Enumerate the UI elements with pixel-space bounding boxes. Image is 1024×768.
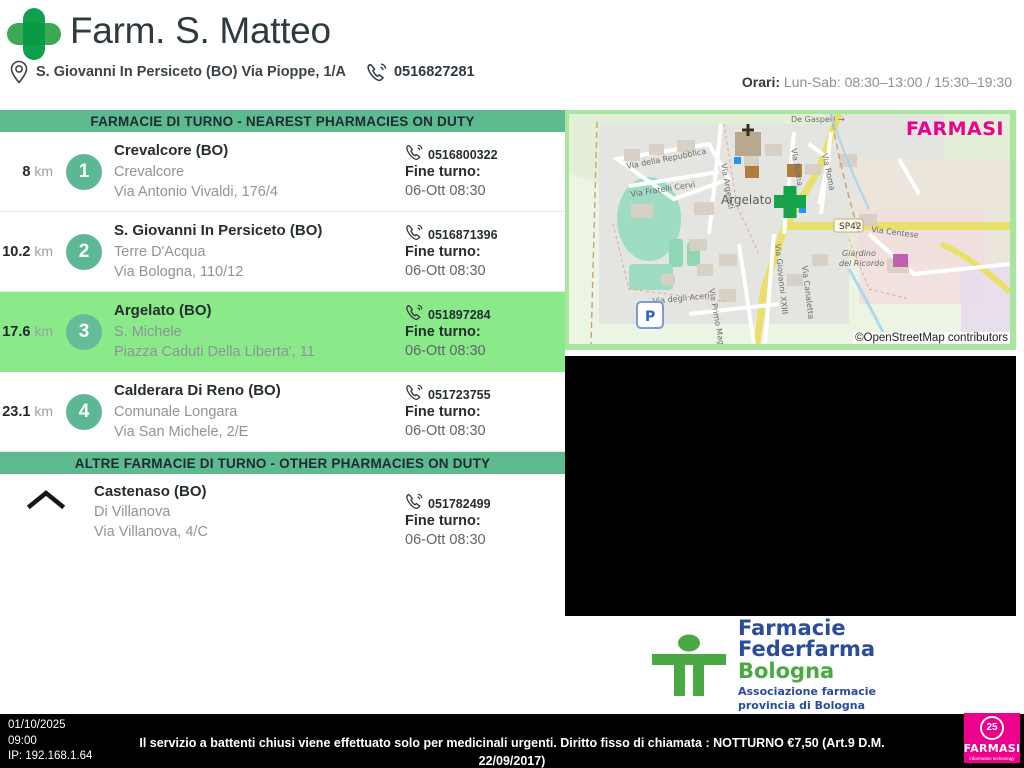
pharmacy-town: Castenaso (BO)	[94, 482, 405, 502]
footer-ip: IP: 192.168.1.64	[8, 749, 92, 765]
pharmacy-street: Via Antonio Vivaldi, 176/4	[114, 182, 405, 202]
shift-end-label: Fine turno:	[405, 243, 557, 262]
chevron-up-icon[interactable]	[26, 488, 66, 510]
pharmacy-contact: 051897284 Fine turno: 06-Ott 08:30	[405, 303, 565, 361]
federfarma-figure-icon	[652, 634, 726, 696]
pharmacy-town: Calderara Di Reno (BO)	[114, 381, 405, 401]
federfarma-sub2: provincia di Bologna	[738, 699, 876, 712]
shift-end-value: 06-Ott 08:30	[405, 262, 557, 281]
phone-line: 051897284	[405, 303, 557, 322]
phone-ring-icon	[405, 303, 424, 322]
opening-hours-label: Orari:	[742, 74, 780, 90]
pharmacy-phone: 051897284	[428, 308, 491, 322]
pharmacy-town: Argelato (BO)	[114, 301, 405, 321]
pharmacy-street: Piazza Caduti Della Liberta', 11	[114, 342, 405, 362]
footer-date: 01/10/2025	[8, 718, 92, 734]
farmasi-brand-name: FARMASI	[964, 742, 1021, 755]
distance-unit: km	[34, 403, 53, 419]
pharmacy-street: Via Villanova, 4/C	[94, 522, 405, 542]
footer-status: 01/10/2025 09:00 IP: 192.168.1.64	[8, 718, 92, 765]
footer-notice: Il servizio a battenti chiusi viene effe…	[120, 734, 904, 768]
phone-line: 051723755	[405, 383, 557, 402]
distance-cell: 8 km	[0, 163, 56, 180]
pharmacy-name: Comunale Longara	[114, 402, 405, 422]
svg-text:Giardino: Giardino	[842, 249, 876, 258]
header: Farm. S. Matteo S. Giovanni In Persiceto…	[0, 0, 1024, 104]
distance-unit: km	[34, 163, 53, 179]
phone-ring-icon	[405, 223, 424, 242]
footer: 01/10/2025 09:00 IP: 192.168.1.64 Il ser…	[0, 714, 1024, 768]
pharmacy-name: S. Michele	[114, 322, 405, 342]
pharmacy-phone: 051723755	[428, 388, 491, 402]
pharmacy-list: FARMACIE DI TURNO - NEAREST PHARMACIES O…	[0, 110, 565, 710]
pharmacy-phone: 051782499	[428, 497, 491, 511]
distance-cell: 17.6 km	[0, 323, 56, 340]
phone-ring-icon	[366, 62, 388, 83]
pharmacy-info: S. Giovanni In Persiceto (BO) Terre D'Ac…	[112, 221, 405, 281]
pharmacy-contact: 051782499 Fine turno: 06-Ott 08:30	[405, 482, 565, 550]
federfarma-logo: Farmacie Federfarma Bologna Associazione…	[652, 624, 922, 706]
federfarma-line2: Federfarma	[738, 639, 876, 660]
page-title: Farm. S. Matteo	[70, 10, 331, 52]
others-band-title: ALTRE FARMACIE DI TURNO - OTHER PHARMACI…	[0, 452, 565, 474]
list-item[interactable]: Castenaso (BO) Di Villanova Via Villanov…	[0, 474, 565, 570]
distance-unit: km	[34, 323, 53, 339]
pharmacy-duty-board: Farm. S. Matteo S. Giovanni In Persiceto…	[0, 0, 1024, 768]
map-attribution: ©OpenStreetMap contributors	[853, 332, 1010, 344]
table-row[interactable]: 8 km 1 Crevalcore (BO) Crevalcore Via An…	[0, 132, 565, 212]
farmasi-tagline: information technology	[969, 756, 1014, 761]
federfarma-line3: Bologna	[738, 661, 876, 682]
map-place-label: Argelato	[721, 193, 772, 207]
pharmacy-contact: 051723755 Fine turno: 06-Ott 08:30	[405, 383, 565, 441]
rank-badge: 4	[66, 394, 102, 430]
table-row[interactable]: 17.6 km 3 Argelato (BO) S. Michele Piazz…	[0, 292, 565, 372]
pharmacy-contact: 0516871396 Fine turno: 06-Ott 08:30	[405, 223, 565, 281]
address-row: S. Giovanni In Persiceto (BO) Via Pioppe…	[8, 60, 475, 84]
pharmacy-phone: 0516800322	[428, 148, 498, 162]
shift-end-value: 06-Ott 08:30	[405, 182, 557, 201]
distance-unit: km	[34, 243, 53, 259]
svg-text:del Ricordo: del Ricordo	[839, 259, 884, 268]
table-row[interactable]: 23.1 km 4 Calderara Di Reno (BO) Comunal…	[0, 372, 565, 452]
shift-end-label: Fine turno:	[405, 512, 557, 531]
pharmacy-info: Calderara Di Reno (BO) Comunale Longara …	[112, 381, 405, 441]
pharmacy-info: Argelato (BO) S. Michele Piazza Caduti D…	[112, 301, 405, 361]
scroll-up-control[interactable]	[0, 482, 92, 510]
location-pin-icon	[8, 60, 30, 84]
table-row[interactable]: 10.2 km 2 S. Giovanni In Persiceto (BO) …	[0, 212, 565, 292]
farmasi-footer-logo: 25 FARMASI information technology	[964, 713, 1020, 763]
nearest-band-title: FARMACIE DI TURNO - NEAREST PHARMACIES O…	[0, 110, 565, 132]
opening-hours-value: Lun-Sab: 08:30–13:00 / 15:30–19:30	[784, 74, 1012, 90]
osm-map[interactable]: Via della Repubblica Via Fratelli Cervi …	[569, 114, 1010, 344]
pharmacy-name: Di Villanova	[94, 502, 405, 522]
distance-value: 23.1	[2, 404, 30, 420]
svg-text:De Gasperi →: De Gasperi →	[791, 115, 845, 124]
shift-end-label: Fine turno:	[405, 323, 557, 342]
phone-ring-icon	[405, 143, 424, 162]
address-text: S. Giovanni In Persiceto (BO) Via Pioppe…	[36, 64, 346, 80]
opening-hours: Orari: Lun-Sab: 08:30–13:00 / 15:30–19:3…	[742, 74, 1012, 90]
pharmacy-street: Via Bologna, 110/12	[114, 262, 405, 282]
rank-badge: 3	[66, 314, 102, 350]
phone-line: 051782499	[405, 492, 557, 511]
pharmacy-name: Terre D'Acqua	[114, 242, 405, 262]
phone-ring-icon	[405, 383, 424, 402]
shift-end-value: 06-Ott 08:30	[405, 342, 557, 361]
distance-cell: 10.2 km	[0, 243, 56, 260]
pharmacy-phone: 0516871396	[428, 228, 498, 242]
video-panel	[565, 356, 1016, 616]
svg-text:P: P	[645, 309, 655, 325]
pharmacy-town: S. Giovanni In Persiceto (BO)	[114, 221, 405, 241]
distance-cell: 23.1 km	[0, 403, 56, 420]
pharmacy-town: Crevalcore (BO)	[114, 141, 405, 161]
distance-value: 10.2	[2, 244, 30, 260]
federfarma-sub1: Associazione farmacie	[738, 685, 876, 698]
pharmacy-street: Via San Michele, 2/E	[114, 422, 405, 442]
distance-value: 17.6	[2, 324, 30, 340]
road-shield-label: SP42	[839, 222, 862, 232]
footer-time: 09:00	[8, 734, 92, 750]
anniversary-seal-icon: 25	[980, 716, 1004, 740]
shift-end-label: Fine turno:	[405, 163, 557, 182]
farmasi-map-logo: FARMASI	[906, 118, 1004, 140]
federfarma-text: Farmacie Federfarma Bologna Associazione…	[738, 618, 876, 712]
federfarma-line1: Farmacie	[738, 618, 876, 639]
shift-end-value: 06-Ott 08:30	[405, 422, 557, 441]
shift-end-value: 06-Ott 08:30	[405, 531, 557, 550]
phone-ring-icon	[405, 492, 424, 511]
map-panel[interactable]: Via della Repubblica Via Fratelli Cervi …	[565, 110, 1016, 350]
map-canvas[interactable]: Via della Repubblica Via Fratelli Cervi …	[569, 114, 1010, 344]
phone-line: 0516871396	[405, 223, 557, 242]
pharmacy-info: Castenaso (BO) Di Villanova Via Villanov…	[92, 482, 405, 542]
pharmacy-name: Crevalcore	[114, 162, 405, 182]
shift-end-label: Fine turno:	[405, 403, 557, 422]
pharmacy-cross-icon	[6, 7, 62, 61]
header-phone-number: 0516827281	[394, 64, 475, 80]
distance-value: 8	[22, 164, 30, 180]
pharmacy-contact: 0516800322 Fine turno: 06-Ott 08:30	[405, 143, 565, 201]
rank-badge: 2	[66, 234, 102, 270]
rank-badge: 1	[66, 154, 102, 190]
phone-line: 0516800322	[405, 143, 557, 162]
pharmacy-info: Crevalcore (BO) Crevalcore Via Antonio V…	[112, 141, 405, 201]
